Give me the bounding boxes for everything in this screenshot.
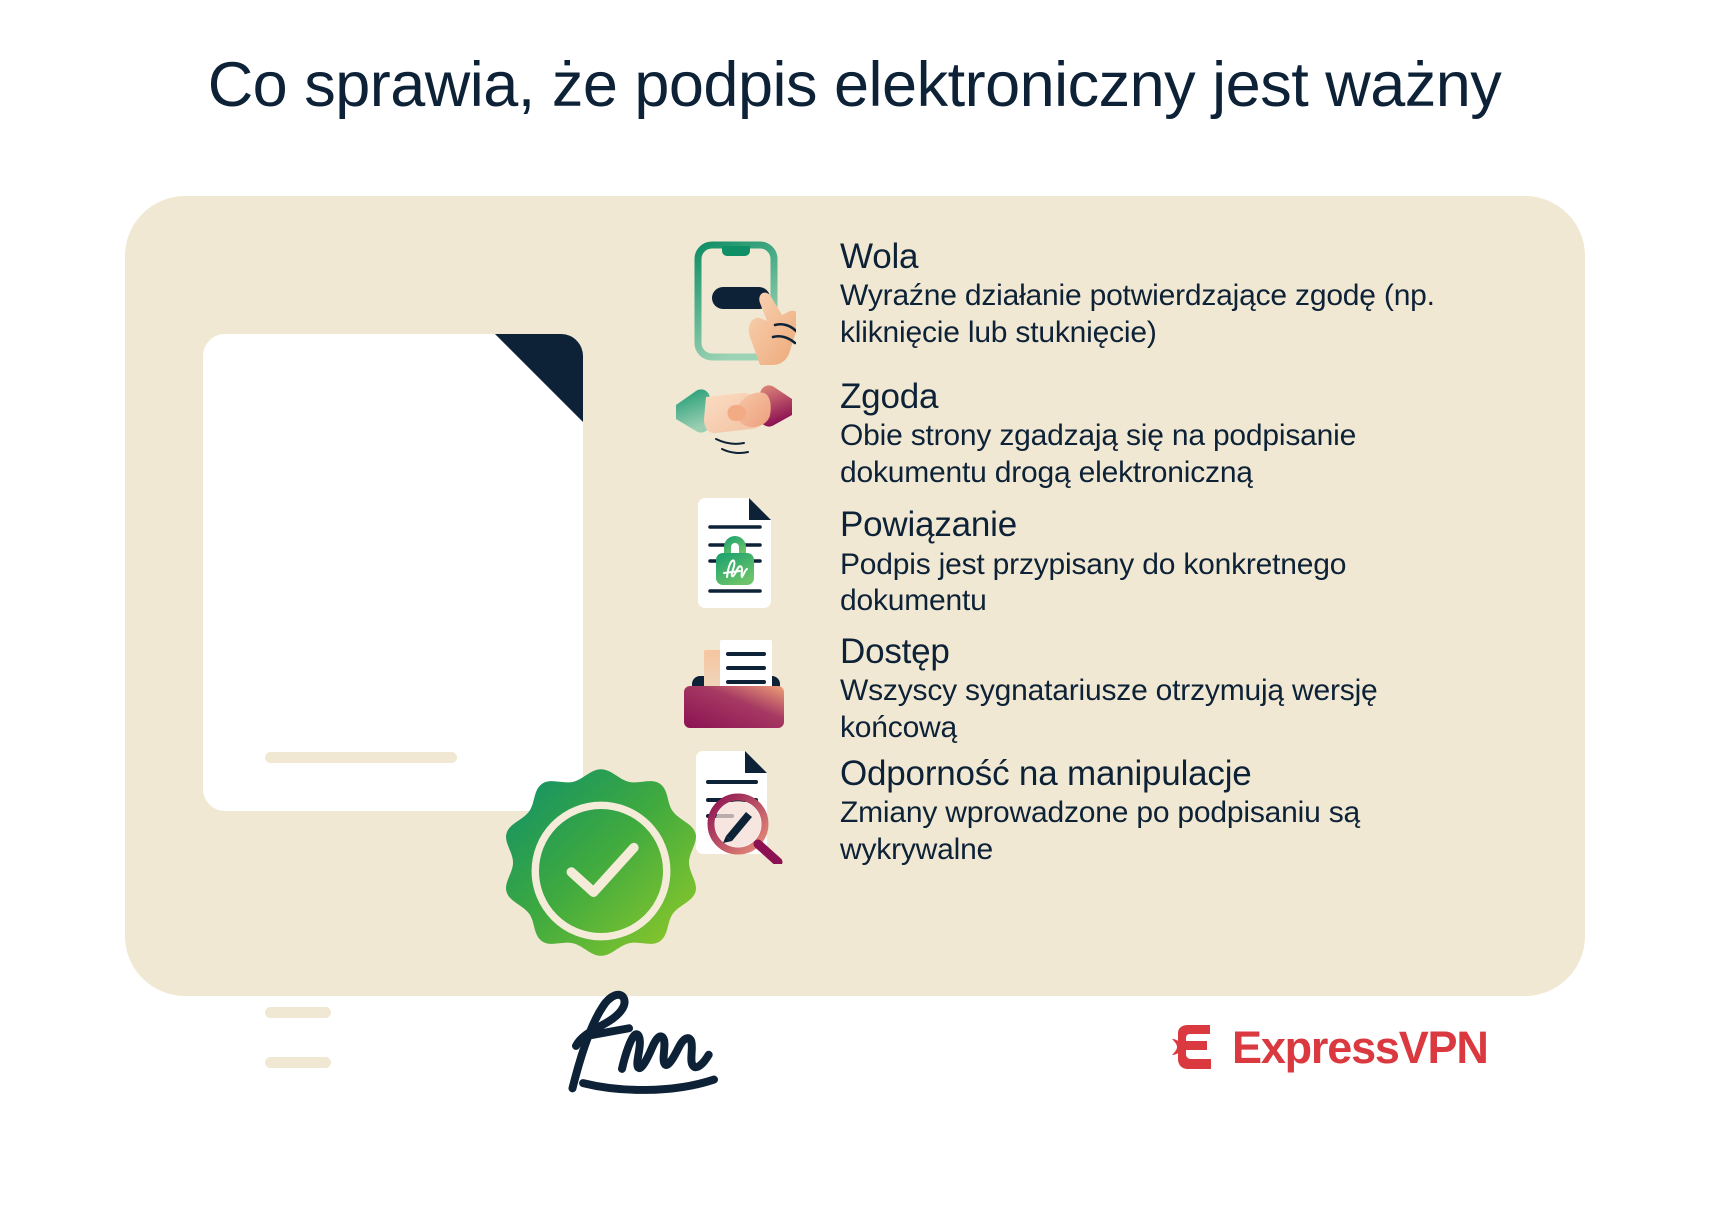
list-item: Dostęp Wszyscy sygnatariusze otrzymują w… bbox=[672, 620, 1502, 746]
phone-tap-icon bbox=[672, 233, 796, 365]
expressvpn-wordmark: ExpressVPN bbox=[1232, 1025, 1488, 1070]
list-item-text: Wola Wyraźne działanie potwierdzające zg… bbox=[796, 233, 1440, 351]
list-item-body: Wszyscy sygnatariusze otrzymują wersję k… bbox=[840, 673, 1440, 746]
handshake-icon bbox=[672, 367, 796, 463]
doc-text-line bbox=[265, 752, 457, 763]
list-item-heading: Odporność na manipulacje bbox=[840, 754, 1440, 793]
expressvpn-logo-icon bbox=[1166, 1019, 1222, 1075]
list-item: Odporność na manipulacje Zmiany wprowadz… bbox=[672, 746, 1502, 868]
list-item-text: Odporność na manipulacje Zmiany wprowadz… bbox=[796, 746, 1440, 868]
list-item-text: Zgoda Obie strony zgadzają się na podpis… bbox=[796, 367, 1440, 491]
list-item-body: Wyraźne działanie potwierdzające zgodę (… bbox=[840, 278, 1440, 351]
list-item-heading: Powiązanie bbox=[840, 505, 1440, 544]
list-item-text: Powiązanie Podpis jest przypisany do kon… bbox=[796, 495, 1440, 619]
list-item-text: Dostęp Wszyscy sygnatariusze otrzymują w… bbox=[796, 620, 1440, 746]
list-item-heading: Wola bbox=[840, 237, 1440, 276]
page-fold-corner-icon bbox=[495, 334, 583, 422]
list-item: Wola Wyraźne działanie potwierdzające zg… bbox=[672, 233, 1502, 365]
document-lock-icon bbox=[672, 495, 796, 613]
doc-text-line bbox=[265, 829, 457, 840]
list-item-body: Podpis jest przypisany do konkretnego do… bbox=[840, 547, 1440, 620]
list-item-heading: Zgoda bbox=[840, 377, 1440, 416]
feature-list: Wola Wyraźne działanie potwierdzające zg… bbox=[672, 233, 1502, 877]
document-magnifier-icon bbox=[672, 746, 796, 864]
list-item-heading: Dostęp bbox=[840, 632, 1440, 671]
infographic-page: Co sprawia, że podpis elektroniczny jest… bbox=[0, 0, 1709, 1217]
list-item-body: Zmiany wprowadzone po podpisaniu są wykr… bbox=[840, 795, 1440, 868]
signed-document-card bbox=[203, 334, 583, 811]
list-item: Powiązanie Podpis jest przypisany do kon… bbox=[672, 495, 1502, 619]
doc-text-line bbox=[703, 906, 767, 917]
doc-text-line bbox=[265, 906, 457, 917]
doc-text-line bbox=[265, 1007, 331, 1018]
page-title: Co sprawia, że podpis elektroniczny jest… bbox=[0, 52, 1709, 118]
handwritten-signature-icon bbox=[555, 984, 735, 1099]
doc-text-line bbox=[265, 1057, 331, 1068]
list-item: Zgoda Obie strony zgadzają się na podpis… bbox=[672, 367, 1502, 491]
expressvpn-logo: ExpressVPN bbox=[1166, 1016, 1488, 1078]
document-folder-icon bbox=[672, 620, 796, 738]
list-item-body: Obie strony zgadzają się na podpisanie d… bbox=[840, 418, 1440, 491]
